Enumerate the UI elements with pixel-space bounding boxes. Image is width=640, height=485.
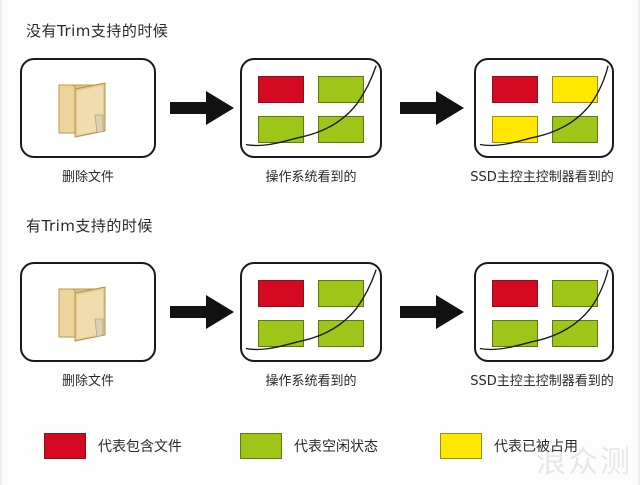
caption-ssd-view: SSD主控主控制器看到的: [442, 166, 640, 185]
diagram-row-no-trim: 删除文件 操作系统看到的 SSD主控主控制器看到的: [2, 58, 640, 188]
legend-label-red: 代表包含文件: [98, 436, 182, 456]
panel-delete-file: [20, 58, 156, 158]
block-cell: [318, 76, 364, 103]
block-cell: [492, 320, 538, 347]
caption-os-view: 操作系统看到的: [240, 370, 382, 389]
legend-swatch-yellow: [440, 433, 482, 459]
legend-swatch-green: [240, 433, 282, 459]
panel-ssd-view: [474, 58, 614, 158]
block-cell: [492, 116, 538, 143]
block-grid: [242, 264, 380, 360]
watermark: 浪众测: [536, 437, 632, 481]
panel-os-view: [240, 58, 382, 158]
block-cell: [492, 76, 538, 103]
caption-delete-file: 删除文件: [20, 166, 156, 185]
block-grid: [242, 60, 380, 156]
block-cell: [258, 116, 304, 143]
block-cell: [318, 280, 364, 307]
legend-item-free: 代表空闲状态: [240, 425, 378, 467]
diagram-canvas: 没有Trim支持的时候: [0, 0, 640, 485]
arrow-right-icon: [170, 90, 236, 126]
block-cell: [492, 280, 538, 307]
arrow-right-icon: [170, 294, 236, 330]
block-cell: [258, 280, 304, 307]
legend-swatch-red: [44, 433, 86, 459]
block-cell: [318, 116, 364, 143]
caption-ssd-view: SSD主控主控制器看到的: [442, 370, 640, 389]
block-cell: [258, 76, 304, 103]
folder-icon: [53, 279, 123, 345]
arrow-right-icon: [400, 294, 466, 330]
panel-delete-file: [20, 262, 156, 362]
block-cell: [552, 116, 598, 143]
block-cell: [258, 320, 304, 347]
diagram-row-with-trim: 删除文件 操作系统看到的 SSD主控主控制器看到的: [2, 262, 640, 392]
section-title-with-trim: 有Trim支持的时候: [26, 215, 153, 236]
arrow-right-icon: [400, 90, 466, 126]
section-title-no-trim: 没有Trim支持的时候: [26, 20, 168, 41]
panel-ssd-view: [474, 262, 614, 362]
block-grid: [476, 60, 612, 156]
block-cell: [552, 320, 598, 347]
caption-os-view: 操作系统看到的: [240, 166, 382, 185]
legend-label-green: 代表空闲状态: [294, 436, 378, 456]
block-cell: [552, 76, 598, 103]
block-cell: [552, 280, 598, 307]
block-cell: [318, 320, 364, 347]
folder-icon: [53, 75, 123, 141]
block-grid: [476, 264, 612, 360]
legend-item-file: 代表包含文件: [44, 425, 182, 467]
caption-delete-file: 删除文件: [20, 370, 156, 389]
panel-os-view: [240, 262, 382, 362]
